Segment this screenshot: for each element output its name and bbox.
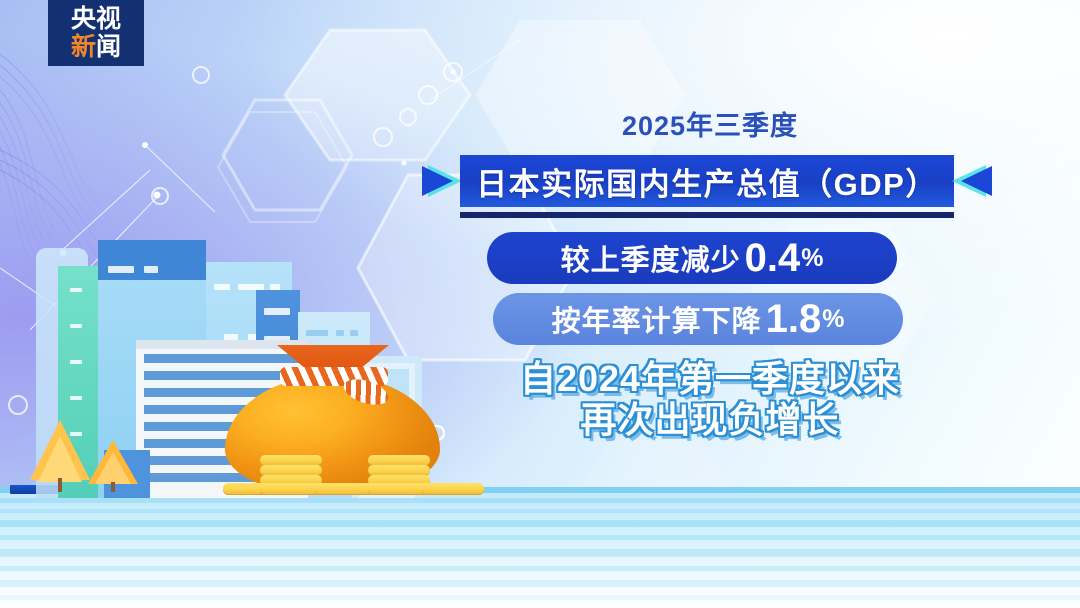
headline-banner: 日本实际国内生产总值（GDP） xyxy=(460,155,954,207)
tree-left xyxy=(30,420,90,492)
footnote-line-2: 再次出现负增长 xyxy=(430,399,990,440)
logo-line-2: 新 闻 xyxy=(71,35,121,60)
headline-banner-underline xyxy=(460,212,954,218)
coin-stacks xyxy=(230,455,455,495)
stat-pill-quarterly: 较上季度减少 0.4 % xyxy=(487,232,897,284)
cctv-news-logo: 央 视 新 闻 xyxy=(48,0,144,66)
headline-banner-text: 日本实际国内生产总值（GDP） xyxy=(476,159,938,204)
logo-char-yang: 央 xyxy=(71,7,96,32)
tree-right xyxy=(88,440,138,492)
triangle-left-icon xyxy=(946,163,992,199)
logo-line-1: 央 视 xyxy=(71,7,121,32)
stat-unit-quarterly: % xyxy=(801,244,823,273)
stat-value-quarterly: 0.4 xyxy=(745,236,801,281)
logo-char-shi: 视 xyxy=(96,7,121,32)
infographic-canvas: 央 视 新 闻 2025年三季度 日本实际国内生产总值（GDP） 较上季度减少 … xyxy=(0,0,1080,608)
stat-unit-annualized: % xyxy=(822,305,844,334)
stat-label-quarterly: 较上季度减少 xyxy=(561,237,741,279)
stat-value-annualized: 1.8 xyxy=(766,297,822,342)
logo-char-wen: 闻 xyxy=(96,35,121,60)
stat-pill-annualized: 按年率计算下降 1.8 % xyxy=(493,293,903,345)
logo-char-xin: 新 xyxy=(71,35,96,60)
footnote-text: 自2024年第一季度以来 再次出现负增长 xyxy=(430,358,990,440)
footnote-line-1: 自2024年第一季度以来 xyxy=(430,358,990,399)
eyebrow-text: 2025年三季度 xyxy=(430,104,990,143)
headline-banner-group: 日本实际国内生产总值（GDP） xyxy=(422,155,992,223)
ground-water xyxy=(0,487,1080,608)
stat-label-annualized: 按年率计算下降 xyxy=(552,298,762,340)
